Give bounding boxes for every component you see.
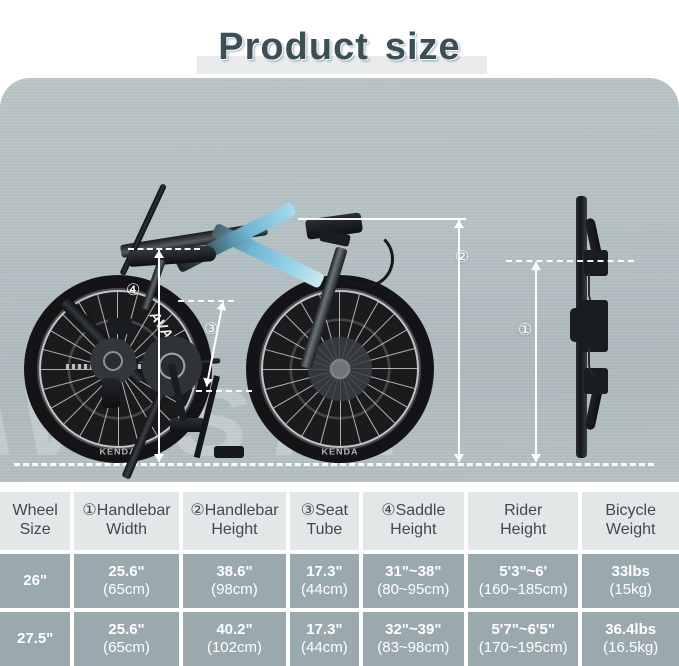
cell-wheel-size-275: 27.5" [0,612,70,666]
cell-wheel-size-26: 26" [0,554,70,608]
saddle-top-guide-line [128,248,200,250]
marker-4-saddle-height: ④ [126,283,140,299]
column-header-rider-height: Rider Height [468,492,578,550]
front-view-shifter-top [584,250,608,276]
table-row: 27.5" 25.6" (65cm) 40.2" (102cm) 17.3" (… [0,612,679,666]
cell-saddle-height-275: 32"~39" (83~98cm) [363,612,465,666]
cell-handlebar-height-26: 38.6" (98cm) [183,554,286,608]
spec-table-header-row: Wheel Size ①Handlebar Width ②Handlebar H… [0,492,679,550]
cell-seat-tube-275: 17.3" (44cm) [290,612,358,666]
column-header-saddle-height: ④Saddle Height [363,492,465,550]
cell-rider-height-26: 5'3"~6' (160~185cm) [468,554,578,608]
table-row: 26" 25.6" (65cm) 38.6" (98cm) 17.3" (44c… [0,554,679,608]
cell-seat-tube-26: 17.3" (44cm) [290,554,358,608]
marker-1-handlebar-width: ① [518,323,532,339]
marker-3-seat-tube: ③ [204,322,218,338]
handlebar-top-guide-line [298,218,466,220]
cell-saddle-height-26: 31"~38" (80~95cm) [363,554,465,608]
spec-table: Wheel Size ①Handlebar Width ②Handlebar H… [0,492,679,666]
cell-handlebar-height-275: 40.2" (102cm) [183,612,286,666]
cell-rider-height-275: 5'7"~6'5" (170~195cm) [468,612,578,666]
product-size-infographic: Productsize AVASTA [0,0,679,664]
marker-2-handlebar-height: ② [455,250,469,266]
front-view-height-arrow [535,262,537,462]
column-header-bicycle-weight: Bicycle Weight [582,492,679,550]
column-header-seat-tube: ③Seat Tube [290,492,358,550]
front-view-top-guide-line [506,260,634,262]
saddle-height-arrow [158,250,160,462]
column-header-handlebar-width: ①Handlebar Width [74,492,178,550]
bicycle-front-view [548,188,618,468]
page-title-part1: Product [218,26,369,68]
cell-bicycle-weight-275: 36.4lbs (16.5kg) [582,612,679,666]
cell-handlebar-width-275: 25.6" (65cm) [74,612,178,666]
seat-tube-bottom-guide-line [196,390,252,392]
cell-bicycle-weight-26: 33lbs (15kg) [582,554,679,608]
front-tire-brand: KENDA [321,448,358,457]
column-header-handlebar-height: ②Handlebar Height [183,492,286,550]
cell-handlebar-width-26: 25.6" (65cm) [74,554,178,608]
page-title-part2: size [385,26,461,68]
product-photo-panel: AVASTA [0,78,679,482]
bottle-cage-mount [108,318,132,334]
rear-derailleur [102,378,120,408]
bicycle-side-view: KENDA KENDA [18,140,438,465]
kickstand-foot [214,446,244,458]
title-section: Productsize [0,12,679,74]
front-view-center-block [582,300,608,352]
column-header-wheel-size: Wheel Size [0,492,70,550]
page-title: Productsize [0,26,679,69]
pedal [170,418,204,432]
